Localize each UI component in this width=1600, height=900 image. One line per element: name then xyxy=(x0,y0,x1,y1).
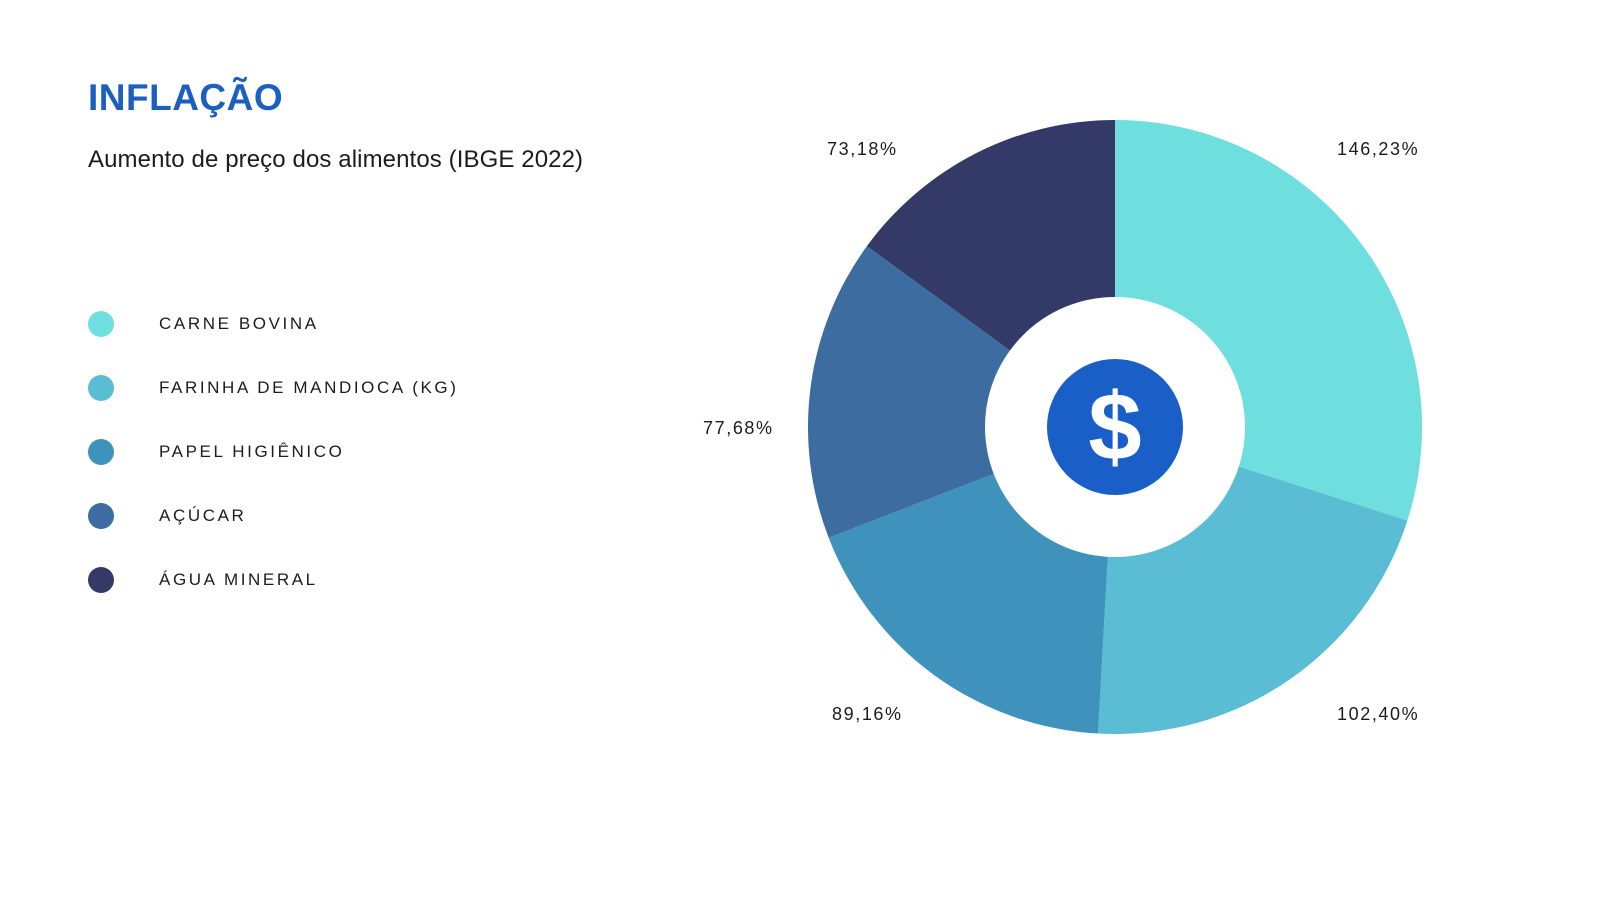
legend-item-agua-mineral[interactable]: ÁGUA MINERAL xyxy=(88,548,708,612)
legend-item-label: AÇÚCAR xyxy=(159,506,246,526)
slice-value-farinha: 102,40% xyxy=(1337,704,1419,725)
legend-item-label: CARNE BOVINA xyxy=(159,314,319,334)
chart-legend: CARNE BOVINA FARINHA DE MANDIOCA (KG) PA… xyxy=(88,292,708,612)
slice-value-carne-bovina: 146,23% xyxy=(1337,139,1419,160)
donut-chart-svg: $ xyxy=(808,120,1422,734)
page-title: INFLAÇÃO xyxy=(88,78,708,119)
page-subtitle: Aumento de preço dos alimentos (IBGE 202… xyxy=(88,119,708,175)
legend-swatch-icon xyxy=(88,567,114,593)
donut-chart: $ xyxy=(808,120,1422,734)
slice-value-papel: 89,16% xyxy=(832,704,903,725)
dollar-icon: $ xyxy=(1088,374,1141,481)
slice-value-acucar: 77,68% xyxy=(703,418,774,439)
legend-swatch-icon xyxy=(88,439,114,465)
legend-swatch-icon xyxy=(88,503,114,529)
slice-value-agua-mineral: 73,18% xyxy=(827,139,898,160)
legend-item-acucar[interactable]: AÇÚCAR xyxy=(88,484,708,548)
infographic-canvas: INFLAÇÃO Aumento de preço dos alimentos … xyxy=(0,0,1600,900)
legend-item-label: ÁGUA MINERAL xyxy=(159,570,318,590)
legend-swatch-icon xyxy=(88,311,114,337)
legend-item-farinha-de-mandioca[interactable]: FARINHA DE MANDIOCA (KG) xyxy=(88,356,708,420)
legend-item-label: PAPEL HIGIÊNICO xyxy=(159,442,344,462)
legend-swatch-icon xyxy=(88,375,114,401)
legend-item-carne-bovina[interactable]: CARNE BOVINA xyxy=(88,292,708,356)
legend-item-label: FARINHA DE MANDIOCA (KG) xyxy=(159,378,459,398)
legend-item-papel-higienico[interactable]: PAPEL HIGIÊNICO xyxy=(88,420,708,484)
header-block: INFLAÇÃO Aumento de preço dos alimentos … xyxy=(88,78,708,174)
